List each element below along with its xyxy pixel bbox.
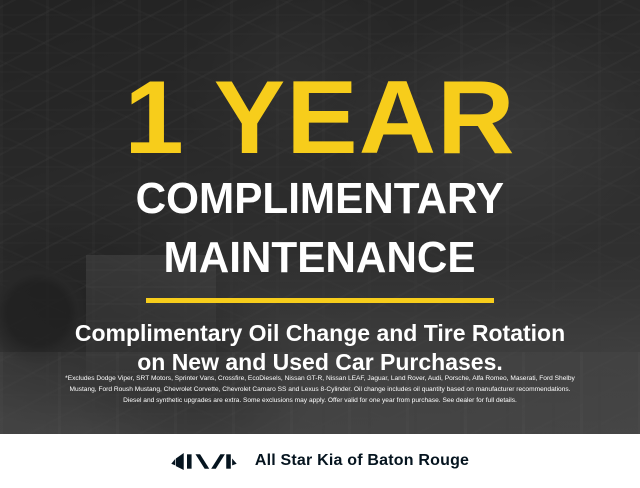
promotional-banner: 1 YEAR COMPLIMENTARY MAINTENANCE Complim… bbox=[0, 0, 640, 488]
disclaimer-line-2: Mustang, Ford Roush Mustang, Chevrolet C… bbox=[10, 384, 630, 395]
disclaimer-line-3: Diesel and synthetic upgrades are extra.… bbox=[10, 395, 630, 406]
kia-logo-icon bbox=[171, 453, 237, 470]
hero-content: 1 YEAR COMPLIMENTARY MAINTENANCE Complim… bbox=[0, 0, 640, 434]
headline-secondary-line-1: COMPLIMENTARY bbox=[136, 177, 504, 222]
disclaimer-line-1: *Excludes Dodge Viper, SRT Motors, Sprin… bbox=[10, 373, 630, 384]
offer-description-line-1: Complimentary Oil Change and Tire Rotati… bbox=[75, 319, 565, 348]
yellow-divider-rule bbox=[146, 298, 494, 303]
disclaimer-text: *Excludes Dodge Viper, SRT Motors, Sprin… bbox=[0, 373, 640, 406]
headline-primary: 1 YEAR bbox=[124, 74, 515, 163]
dealer-footer: All Star Kia of Baton Rouge bbox=[0, 434, 640, 488]
headline-secondary-line-2: MAINTENANCE bbox=[164, 236, 476, 281]
dealer-name-label: All Star Kia of Baton Rouge bbox=[255, 452, 469, 470]
hero-photo-area: 1 YEAR COMPLIMENTARY MAINTENANCE Complim… bbox=[0, 0, 640, 434]
